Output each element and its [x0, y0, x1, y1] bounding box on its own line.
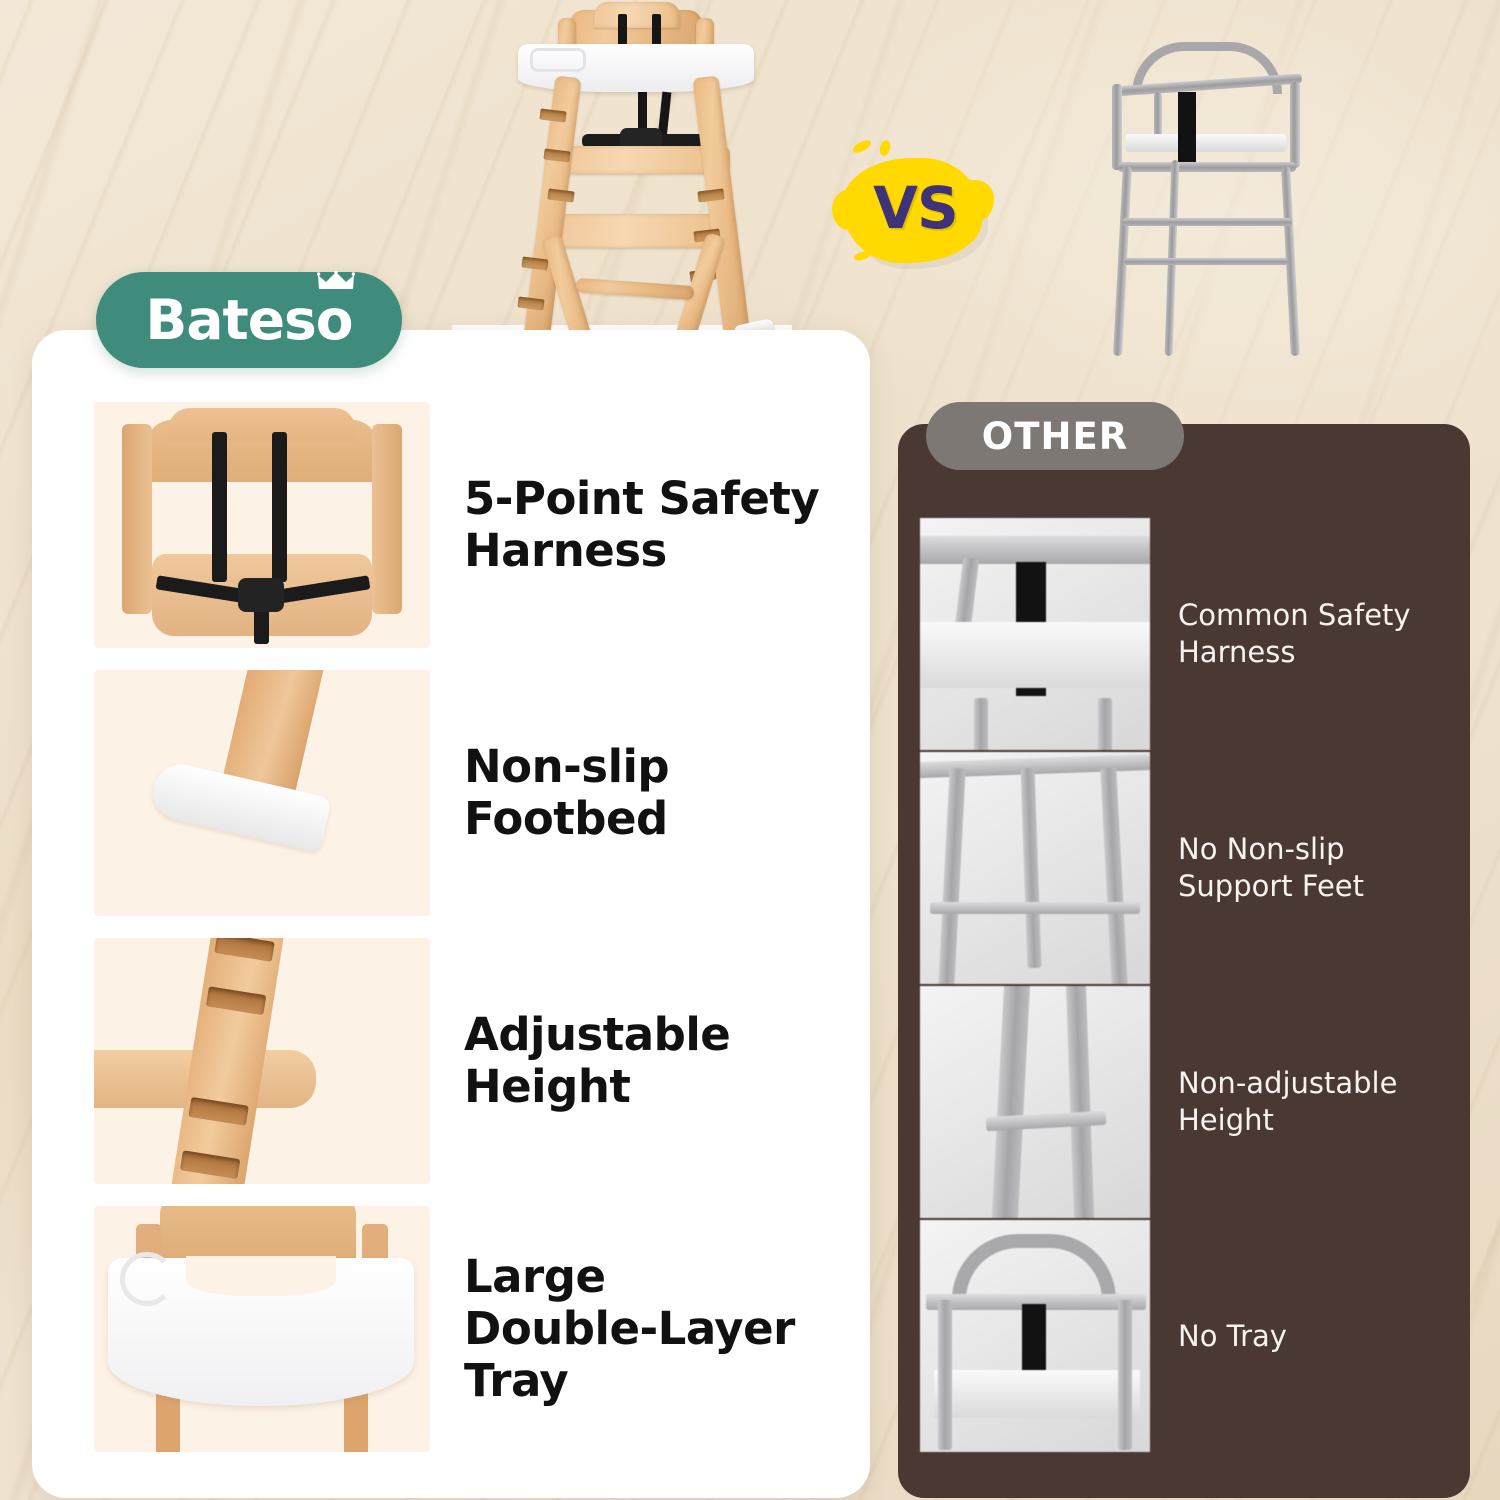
height-notch [521, 256, 548, 270]
other-feature-row: Common Safety Harness [920, 518, 1460, 750]
other-thumb-plain-legs [920, 752, 1150, 984]
tray-cup-holder [530, 48, 586, 72]
competitor-seat-rail [1118, 162, 1296, 172]
thumb-arm-right [372, 424, 402, 614]
bateso-brand-badge: Bateso [96, 272, 402, 368]
feature-row: Large Double-Layer Tray [94, 1206, 854, 1452]
other-feature-label: No Non-slip Support Feet [1178, 831, 1364, 904]
feature-thumb-height [94, 938, 430, 1184]
height-notch [214, 938, 274, 962]
blurred-arm-rail [920, 536, 1150, 564]
competitor-strap [1178, 92, 1196, 162]
feature-row: Non-slip Footbed [94, 670, 854, 916]
blurred-fixed-post [991, 986, 1030, 1218]
height-notch [180, 1150, 240, 1179]
height-notch [539, 108, 566, 122]
blurred-leg [1021, 768, 1042, 968]
blurred-seat [920, 622, 1150, 688]
competitor-stretcher-upper [1122, 218, 1292, 226]
blurred-seat [934, 1370, 1140, 1418]
thumb-backrest [146, 420, 378, 482]
blurred-fixed-post [1066, 986, 1095, 1218]
chair-crossbar-upper [576, 278, 695, 300]
feature-row: 5-Point Safety Harness [94, 402, 854, 648]
feature-label: Large Double-Layer Tray [464, 1251, 795, 1408]
competitor-front-post-right [1290, 82, 1300, 168]
other-thumb-common-harness [920, 518, 1150, 750]
vs-label: VS [830, 140, 995, 270]
feature-label: Adjustable Height [464, 1009, 730, 1113]
height-notch [517, 296, 544, 310]
feature-label: 5-Point Safety Harness [464, 473, 819, 577]
other-feature-row: Non-adjustable Height [920, 986, 1460, 1218]
other-feature-label: Non-adjustable Height [1178, 1065, 1397, 1138]
competitor-front-post-left [1112, 84, 1122, 170]
other-feature-label: Common Safety Harness [1178, 597, 1411, 670]
bateso-feature-card: 5-Point Safety Harness Non-slip Footbed … [32, 330, 870, 1498]
other-brand-badge: OTHER [926, 402, 1184, 470]
height-notch [206, 986, 266, 1015]
hero-competitor-chair-image [1090, 42, 1340, 362]
height-notch [188, 1097, 248, 1126]
chair-backrest-crest [594, 2, 680, 28]
blurred-stretcher [930, 902, 1140, 914]
thumb-arm-left [122, 424, 152, 614]
blurred-leg [1100, 768, 1127, 984]
blurred-post [1118, 1300, 1132, 1450]
feature-thumb-harness [94, 402, 430, 648]
vs-badge: VS [830, 140, 995, 270]
feature-thumb-tray [94, 1206, 430, 1452]
thumb-tray-cup-recess [120, 1252, 174, 1306]
other-feature-label: No Tray [1178, 1318, 1287, 1355]
other-feature-row: No Tray [920, 1220, 1460, 1452]
harness-shoulder-strap-right [272, 432, 287, 582]
bateso-logo-text: Bateso [145, 288, 352, 352]
bateso-logo: Bateso [145, 288, 352, 352]
other-thumb-no-tray [920, 1220, 1150, 1452]
other-thumb-fixed-frame [920, 986, 1150, 1218]
harness-shoulder-strap-left [212, 432, 227, 582]
other-badge-text: OTHER [982, 415, 1128, 458]
competitor-stretcher-lower [1124, 258, 1288, 265]
blurred-post [938, 1300, 952, 1450]
other-feature-row: No Non-slip Support Feet [920, 752, 1460, 984]
harness-buckle [238, 578, 284, 612]
feature-thumb-footbed [94, 670, 430, 916]
feature-row: Adjustable Height [94, 938, 854, 1184]
blurred-leg [974, 698, 988, 750]
blurred-leg [938, 768, 965, 984]
feature-label: Non-slip Footbed [464, 741, 669, 845]
blurred-leg [1098, 698, 1112, 750]
blurred-backrest-hoop [952, 1234, 1116, 1300]
crown-icon [317, 271, 355, 291]
competitor-seat [1126, 134, 1286, 152]
